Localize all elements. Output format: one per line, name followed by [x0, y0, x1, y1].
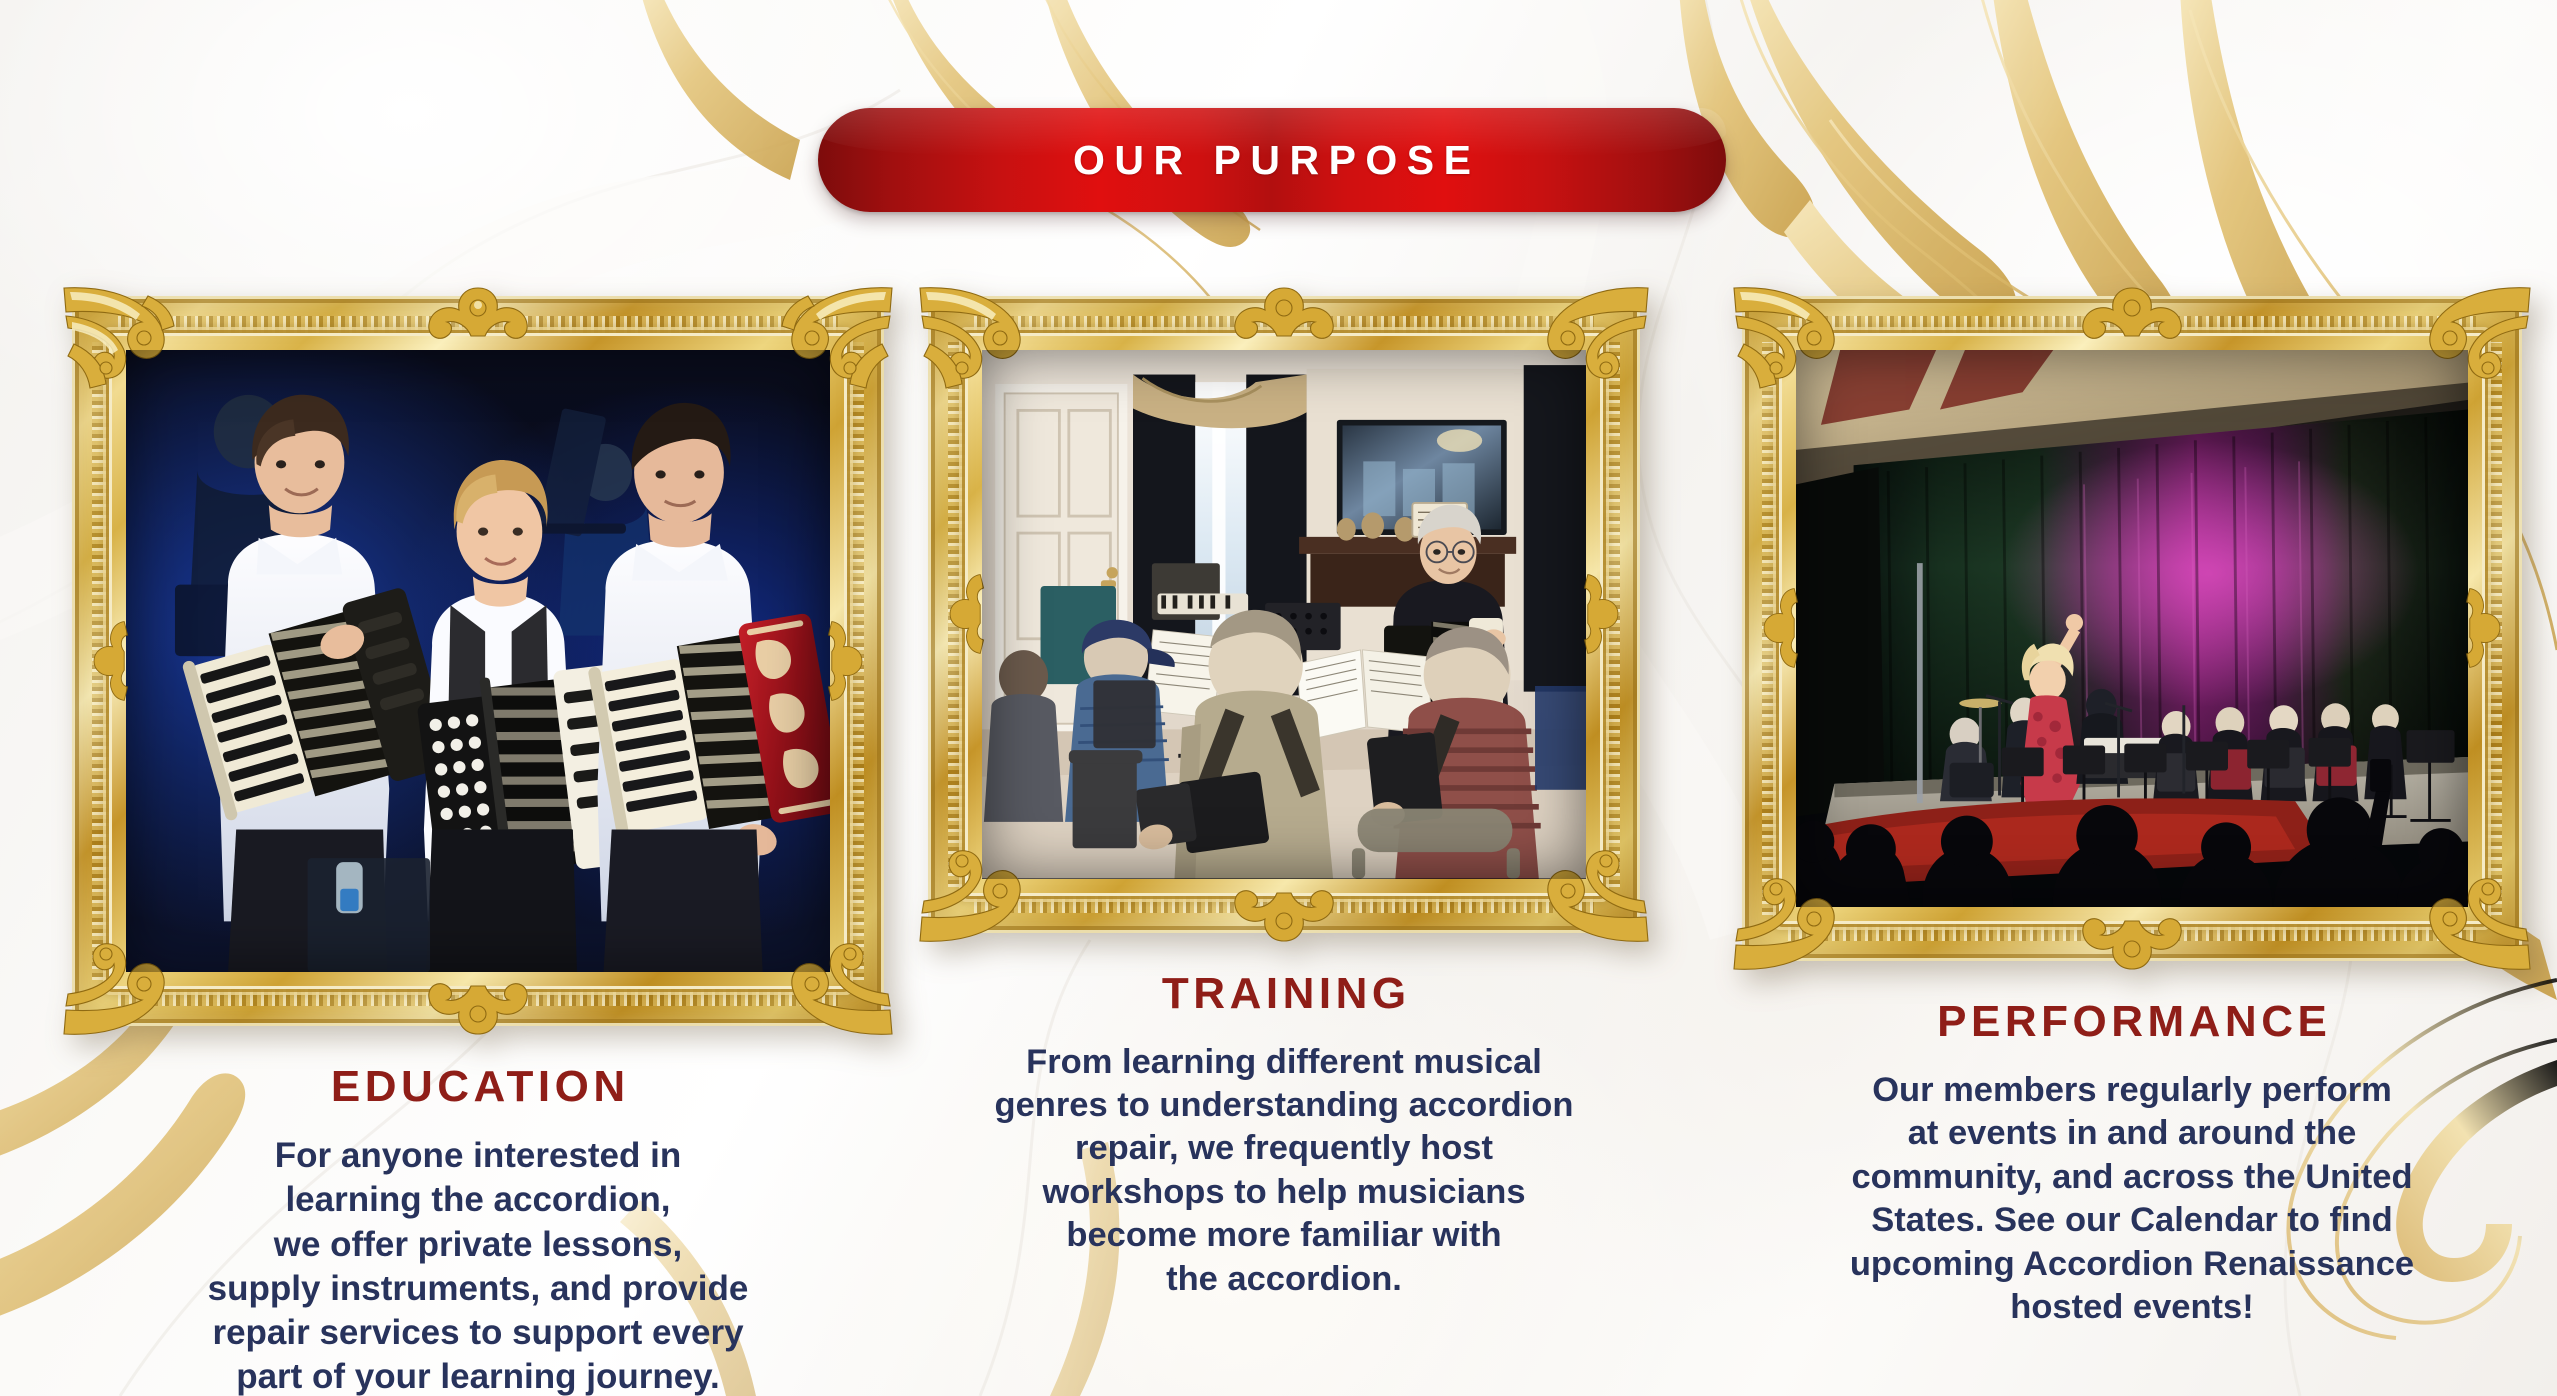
card-body-education: For anyone interested in learning the ac…: [72, 1134, 884, 1396]
frame-relief-band-top: [118, 316, 838, 336]
photo-education: [126, 350, 830, 972]
purpose-card-performance: PERFORMANCE Our members regularly perfor…: [1742, 296, 2522, 1330]
banner-label: OUR PURPOSE: [1064, 137, 1481, 184]
frame-relief-band-left: [92, 342, 112, 980]
frame-relief-band-top: [1788, 316, 2476, 336]
frame-relief-band-bottom: [1788, 921, 2476, 941]
frame-ornament-bottom-center: [2067, 911, 2197, 973]
card-title-education: EDUCATION: [72, 1062, 884, 1112]
frame-ornament-top-center: [1219, 284, 1349, 346]
card-body-performance: Our members regularly perform at events …: [1742, 1069, 2522, 1330]
photo-vignette: [1796, 350, 2468, 907]
frame-relief-band-left: [1762, 342, 1782, 915]
photo-performance: [1796, 350, 2468, 907]
picture-frame-performance: [1742, 296, 2522, 961]
frame-ornament-bottom-center: [413, 976, 543, 1038]
gold-frame-border: [1742, 296, 2522, 961]
card-body-training: From learning different musical genres t…: [928, 1041, 1640, 1302]
frame-relief-band-top: [974, 316, 1594, 336]
frame-ornament-bottom-center: [1219, 883, 1349, 945]
gold-frame-border: [928, 296, 1640, 933]
frame-ornament-top-center: [413, 284, 543, 346]
frame-relief-band-right: [1600, 342, 1620, 887]
frame-ornament-top-center: [2067, 284, 2197, 346]
card-title-training: TRAINING: [928, 969, 1640, 1019]
our-purpose-banner: OUR PURPOSE: [818, 108, 1726, 212]
frame-relief-band-bottom: [118, 986, 838, 1006]
picture-frame-training: [928, 296, 1640, 933]
purpose-card-education: EDUCATION For anyone interested in learn…: [72, 296, 884, 1396]
frame-relief-band-left: [948, 342, 968, 887]
frame-relief-band-bottom: [974, 893, 1594, 913]
card-title-performance: PERFORMANCE: [1742, 997, 2522, 1047]
purpose-card-training: TRAINING From learning different musical…: [928, 296, 1640, 1301]
frame-relief-band-right: [2482, 342, 2502, 915]
gold-frame-border: [72, 296, 884, 1026]
picture-frame-education: [72, 296, 884, 1026]
photo-vignette: [982, 350, 1586, 879]
photo-vignette: [126, 350, 830, 972]
frame-relief-band-right: [844, 342, 864, 980]
photo-training: [982, 350, 1586, 879]
